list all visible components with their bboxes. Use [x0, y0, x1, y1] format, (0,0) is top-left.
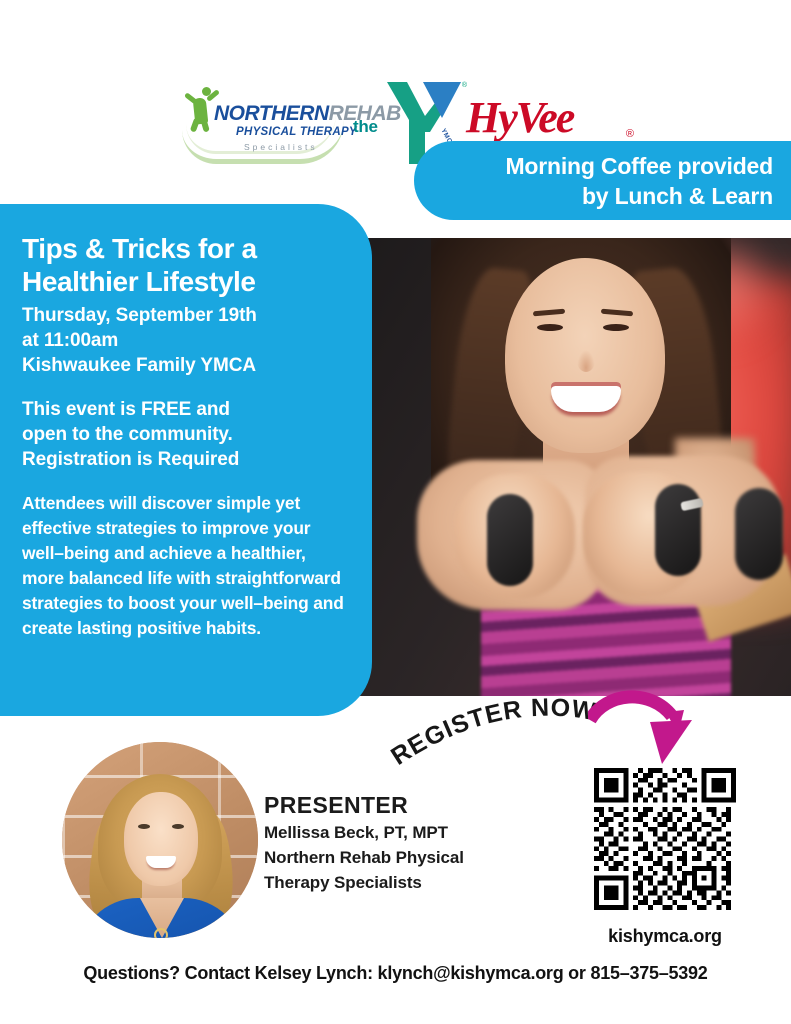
logo-row: NORTHERNREHAB PHYSICAL THERAPY Specialis…: [0, 38, 791, 134]
hyvee-logo: HyVee ®: [466, 94, 621, 142]
event-time: at 11:00am: [22, 328, 350, 353]
hyvee-registered-icon: ®: [626, 128, 634, 140]
presenter-photo-smile: [146, 856, 176, 868]
panel-spacer-2: [22, 472, 350, 491]
presenter-photo-face: [124, 792, 198, 886]
info-panel: Tips & Tricks for a Healthier Lifestyle …: [0, 204, 372, 716]
coffee-banner: Morning Coffee provided by Lunch & Learn: [414, 141, 791, 220]
hero-photo-smile: [551, 386, 621, 412]
hero-photo-nose: [577, 350, 595, 372]
event-free-line-1: This event is FREE and: [22, 397, 350, 422]
qr-code-icon[interactable]: [594, 768, 736, 910]
presenter-name: Mellissa Beck, PT, MPT: [264, 820, 544, 845]
hero-photo-dumbbell-left-icon: [487, 494, 533, 586]
hero-photo-eye-right: [603, 324, 629, 331]
ymca-registered-icon: ®: [462, 82, 467, 89]
northern-rehab-subtitle: PHYSICAL THERAPY: [236, 126, 357, 138]
presenter-photo-necklace: [154, 928, 168, 938]
event-free-line-2: open to the community.: [22, 422, 350, 447]
northern-rehab-logo: NORTHERNREHAB PHYSICAL THERAPY Specialis…: [182, 84, 344, 164]
register-now-label: REGISTER NOW: [386, 694, 598, 771]
presenter-heading: PRESENTER: [264, 790, 544, 820]
qr-caption: kishymca.org: [594, 926, 736, 947]
ymca-the-label: the: [353, 117, 378, 137]
hero-photo: [345, 238, 791, 696]
register-now-callout: REGISTER NOW: [394, 700, 614, 770]
presenter-info: PRESENTER Mellissa Beck, PT, MPT Norther…: [264, 790, 544, 895]
qr-block[interactable]: kishymca.org: [594, 768, 736, 947]
event-registration-required: Registration is Required: [22, 447, 350, 472]
panel-spacer-1: [22, 378, 350, 397]
presenter-org-line-2: Therapy Specialists: [264, 870, 544, 895]
hyvee-wordmark: HyVee: [466, 94, 621, 142]
presenter-org-line-1: Northern Rehab Physical: [264, 845, 544, 870]
event-date: Thursday, September 19th: [22, 303, 350, 328]
presenter-photo-eye-left: [138, 824, 150, 829]
northern-rehab-word-primary: NORTHERN: [214, 102, 329, 125]
northern-rehab-tagline: Specialists: [244, 142, 318, 152]
coffee-banner-line1: Morning Coffee provided: [414, 151, 773, 181]
northern-rehab-figure-head-icon: [202, 87, 211, 96]
presenter-avatar: [62, 742, 258, 938]
hero-photo-eye-left: [537, 324, 563, 331]
coffee-banner-line2: by Lunch & Learn: [414, 181, 773, 211]
event-location: Kishwaukee Family YMCA: [22, 353, 350, 378]
event-title: Tips & Tricks for a Healthier Lifestyle: [22, 232, 350, 298]
footer-contact: Questions? Contact Kelsey Lynch: klynch@…: [0, 963, 791, 984]
hero-photo-dumbbell-right-icon: [655, 484, 701, 576]
presenter-photo-eye-right: [172, 824, 184, 829]
hero-photo-dumbbell-far: [735, 488, 783, 580]
event-description: Attendees will discover simple yet effec…: [22, 491, 350, 641]
register-arrow-icon: [588, 690, 708, 770]
